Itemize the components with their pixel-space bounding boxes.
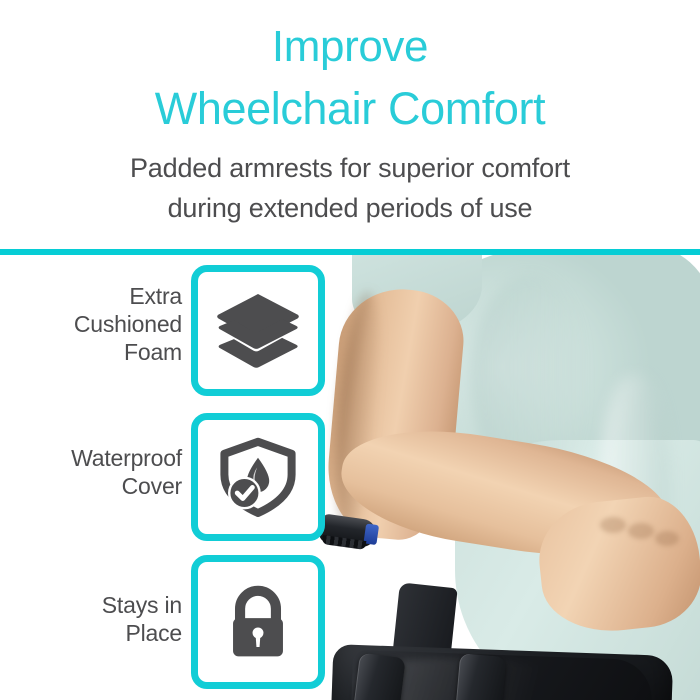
feature-3-label: Stays in Place bbox=[0, 591, 182, 647]
headline-line-2: Wheelchair Comfort bbox=[0, 84, 700, 134]
subheadline-line-2: during extended periods of use bbox=[0, 192, 700, 225]
padlock-icon bbox=[219, 583, 297, 661]
headline-line-1: Improve bbox=[0, 22, 700, 72]
feature-1-label: Extra Cushioned Foam bbox=[0, 282, 182, 366]
feature-1-label-line-2: Cushioned bbox=[0, 310, 182, 338]
feature-2-label-line-2: Cover bbox=[0, 472, 182, 500]
feature-1-label-line-3: Foam bbox=[0, 338, 182, 366]
layers-icon bbox=[215, 288, 301, 374]
feature-3-icon-box bbox=[191, 555, 325, 689]
feature-3-label-line-1: Stays in bbox=[0, 591, 182, 619]
photo-knuckle-2 bbox=[628, 523, 654, 539]
feature-2-label: Waterproof Cover bbox=[0, 444, 182, 500]
infographic-canvas: Improve Wheelchair Comfort Padded armres… bbox=[0, 0, 700, 700]
photo-knuckle-1 bbox=[600, 517, 626, 533]
feature-1-icon-box bbox=[191, 265, 325, 396]
shield-water-drop-check-icon bbox=[218, 437, 298, 517]
feature-3-label-line-2: Place bbox=[0, 619, 182, 647]
header-section: Improve Wheelchair Comfort Padded armres… bbox=[0, 0, 700, 250]
photo-knuckle-3 bbox=[655, 531, 679, 546]
feature-2-icon-box bbox=[191, 413, 325, 541]
feature-2-label-line-1: Waterproof bbox=[0, 444, 182, 472]
subheadline-line-1: Padded armrests for superior comfort bbox=[0, 152, 700, 185]
feature-1-label-line-1: Extra bbox=[0, 282, 182, 310]
